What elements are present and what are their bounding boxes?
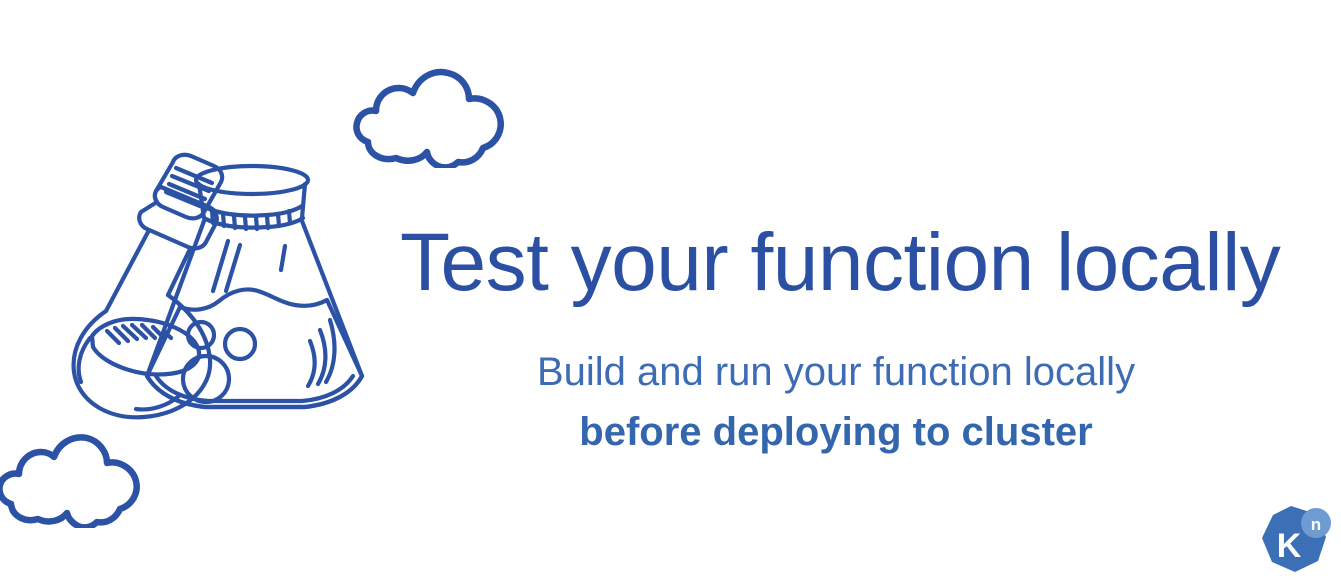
cloud-icon-top bbox=[352, 62, 508, 168]
subtitle-line-2: before deploying to cluster bbox=[400, 412, 1272, 452]
page-title: Test your function locally bbox=[400, 222, 1272, 304]
logo-badge-letter: n bbox=[1311, 515, 1321, 534]
knative-logo: K n bbox=[1258, 504, 1334, 580]
text-block: Test your function locally Build and run… bbox=[400, 222, 1272, 452]
subtitle-line-1: Build and run your function locally bbox=[400, 352, 1272, 392]
slide-canvas: Test your function locally Build and run… bbox=[0, 0, 1341, 585]
cloud-icon-bottom bbox=[0, 428, 148, 528]
laboratory-flasks-illustration bbox=[62, 148, 392, 420]
logo-mark-letter: K bbox=[1277, 527, 1302, 565]
